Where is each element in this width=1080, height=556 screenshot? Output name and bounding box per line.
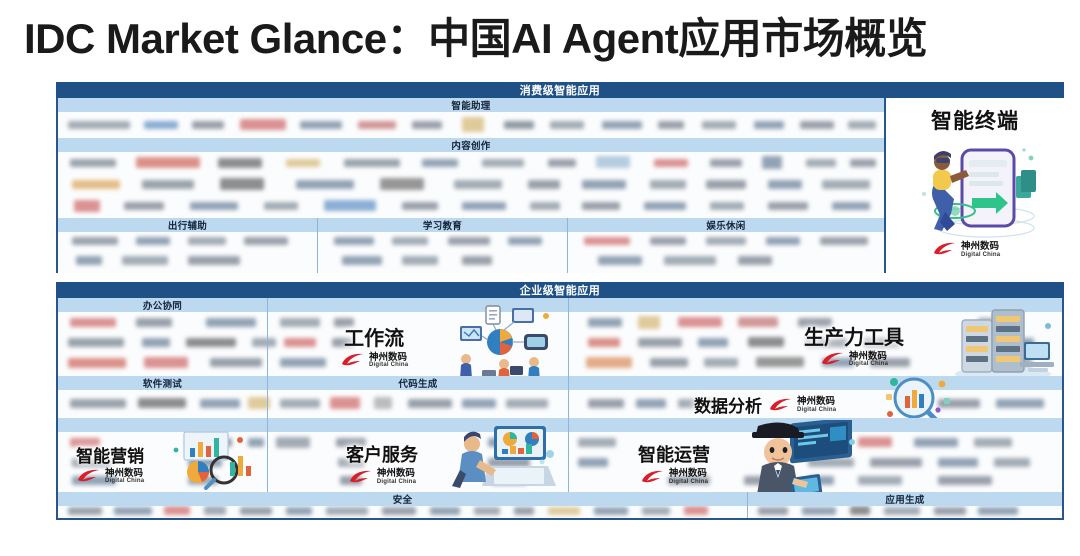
callout-smart-marketing: 智能营销 神州数码 Digital China xyxy=(76,436,276,490)
enterprise-divider-1 xyxy=(267,298,268,492)
consumer-section: 消费级智能应用 智能助理 内 xyxy=(56,82,1064,273)
brand-name-cn: 神州数码 xyxy=(669,469,708,479)
enterprise-band-damashengcheng: 代码生成 xyxy=(268,376,568,390)
digital-china-logo-icon xyxy=(76,469,102,484)
callout-workflow-title: 工作流 xyxy=(344,322,404,351)
enterprise-band-bangongxietong: 办公协同 xyxy=(58,298,267,312)
brand-name-en: Digital China xyxy=(669,479,708,485)
enterprise-logos-row4 xyxy=(58,506,1062,518)
consumer-logos-zhinengzhuli xyxy=(58,112,884,138)
smart-phone-ar-icon xyxy=(900,136,1052,241)
digital-china-logo-icon xyxy=(768,398,794,413)
consumer-band-xuexijiaoyu: 学习教育 xyxy=(318,218,567,232)
enterprise-band-yingyongshengcheng: 应用生成 xyxy=(748,492,1062,506)
consumer-band-yulexiuxian: 娱乐休闲 xyxy=(568,218,884,232)
brand-name-cn: 神州数码 xyxy=(797,397,836,407)
consumer-section-title: 消费级智能应用 xyxy=(56,82,1064,98)
consumer-side-panel-smart-terminal: 智能终端 xyxy=(884,98,1064,273)
enterprise-section-title: 企业级智能应用 xyxy=(56,282,1064,298)
enterprise-band-anquan: 安全 xyxy=(58,492,747,506)
enterprise-band-ruanjianceshi: 软件测试 xyxy=(58,376,267,390)
consumer-logos-columns xyxy=(58,232,884,273)
callout-smart-marketing-title: 智能营销 xyxy=(76,442,144,467)
brand-name-cn: 神州数码 xyxy=(377,469,416,479)
smart-terminal-brand: 神州数码 Digital China xyxy=(932,240,1000,258)
digital-china-logo-icon xyxy=(348,470,374,485)
digital-china-logo-icon xyxy=(340,353,366,368)
callout-smart-operations-title: 智能运营 xyxy=(638,441,710,467)
consumer-divider-1 xyxy=(317,218,318,273)
callout-data-analysis: 数据分析 神州数码 Digital China xyxy=(694,388,954,420)
brand-name-en: Digital China xyxy=(105,478,144,484)
digital-china-logo-icon xyxy=(932,242,958,257)
market-glance-poster: IDC Market Glance：中国AI Agent应用市场概览 消费级智能… xyxy=(0,0,1080,556)
brand-name-en: Digital China xyxy=(797,407,836,413)
brand-name-cn: 神州数码 xyxy=(849,352,888,362)
callout-productivity-tools: 生产力工具 神州数码 Digital China xyxy=(798,312,1062,374)
digital-china-logo-icon xyxy=(820,352,846,367)
brand-name-cn: 神州数码 xyxy=(369,353,408,363)
brand-name-en: Digital China xyxy=(369,362,408,368)
consumer-band-chuxingfuzhu: 出行辅助 xyxy=(58,218,317,232)
brand-name-cn: 神州数码 xyxy=(105,469,144,479)
callout-data-analysis-title: 数据分析 xyxy=(694,392,762,417)
digital-china-logo-icon xyxy=(640,470,666,485)
callout-productivity-title: 生产力工具 xyxy=(804,321,904,350)
consumer-divider-2 xyxy=(567,218,568,273)
operations-manager-icon xyxy=(748,420,864,500)
brand-name-en: Digital China xyxy=(849,361,888,367)
callout-customer-service: 客户服务 神州数码 Digital China xyxy=(346,434,586,492)
consumer-band-zhinengzhuli: 智能助理 xyxy=(58,98,884,112)
workflow-network-icon xyxy=(442,304,560,382)
market-glance-board: 消费级智能应用 智能助理 内 xyxy=(56,82,1064,520)
enterprise-divider-2 xyxy=(568,298,569,492)
brand-name-en: Digital China xyxy=(377,479,416,485)
brand-name-en: Digital China xyxy=(961,252,1000,258)
marketing-chart-icon xyxy=(168,430,252,490)
consumer-band-neirongchuangzuo: 内容创作 xyxy=(58,138,884,152)
support-agent-icon xyxy=(448,422,558,498)
page-title: IDC Market Glance：中国AI Agent应用市场概览 xyxy=(24,18,1064,60)
server-rack-icon xyxy=(948,300,1058,384)
enterprise-divider-3 xyxy=(747,492,748,518)
smart-terminal-title: 智能终端 xyxy=(931,105,1019,135)
consumer-logos-neirongchuangzuo xyxy=(58,152,884,218)
callout-smart-operations: 智能运营 神州数码 Digital China xyxy=(638,434,888,492)
enterprise-section: 企业级智能应用 办公协同 xyxy=(56,282,1064,520)
brand-name-cn: 神州数码 xyxy=(961,242,1000,252)
callout-customer-service-title: 客户服务 xyxy=(346,441,418,467)
callout-workflow: 工作流 神州数码 Digital China xyxy=(330,316,560,374)
